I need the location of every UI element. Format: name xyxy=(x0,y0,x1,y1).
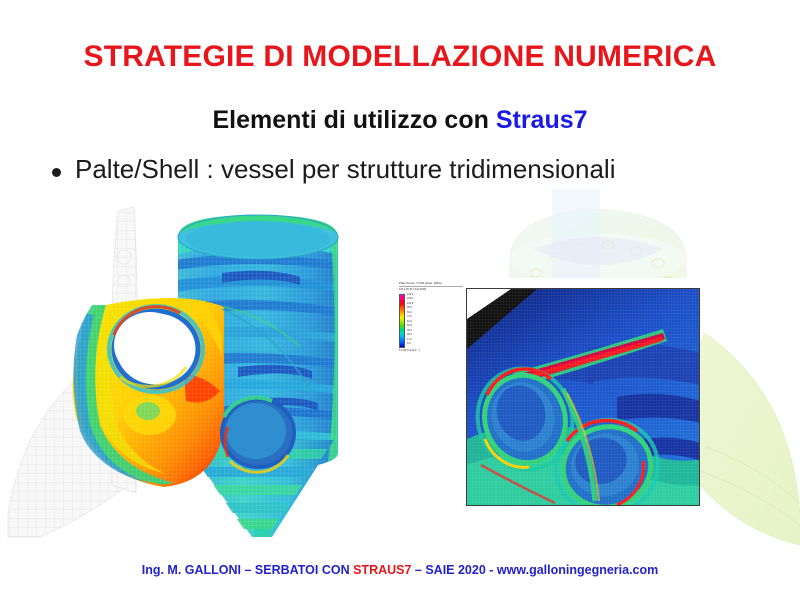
fea-detail-inset: Plate Stress: Tr Mid plane, (MPa) 129.2 … xyxy=(396,278,700,506)
inset-contour-image xyxy=(466,288,700,506)
legend-tick: 106.8 xyxy=(407,303,413,306)
subtitle-accent: Straus7 xyxy=(496,106,588,134)
footer-part1: Ing. M. GALLONI – SERBATOI CON xyxy=(142,563,353,577)
stress-legend: Plate Stress: Tr Mid plane, (MPa) 129.2 … xyxy=(399,281,463,349)
legend-tick: 62.0 xyxy=(407,321,413,324)
bullet-dot-icon xyxy=(52,168,61,177)
legend-tick: 6.0 xyxy=(407,343,413,346)
legend-tick: 84.4 xyxy=(407,312,413,315)
page-title: STRATEGIE DI MODELLAZIONE NUMERICA xyxy=(0,40,800,74)
legend-tick: 129.2 xyxy=(407,294,413,297)
legend-tick: 50.8 xyxy=(407,325,413,328)
legend-tick: 17.2 xyxy=(407,339,413,342)
legend-title: Plate Stress: Tr Mid plane, (MPa) xyxy=(399,281,463,287)
legend-tick: 118.0 xyxy=(407,298,413,301)
pale-green-shell-ghost xyxy=(689,333,800,545)
inset-fea-svg xyxy=(467,289,700,506)
bullet-text: Palte/Shell : vessel per strutture tridi… xyxy=(75,155,615,185)
legend-tick: 28.4 xyxy=(407,334,413,337)
legend-tick: 39.6 xyxy=(407,330,413,333)
subtitle: Elementi di utilizzo con Straus7 xyxy=(0,106,800,135)
bullet-item: Palte/Shell : vessel per strutture tridi… xyxy=(52,155,772,185)
footer-highlight: STRAUS7 xyxy=(353,563,411,577)
legend-max-label: 129.2 [Pt:317 Surf:4629] xyxy=(399,288,463,292)
legend-tick: 73.2 xyxy=(407,316,413,319)
legend-tick: 95.6 xyxy=(407,307,413,310)
slide-canvas: Plate Stress: Tr Mid plane, (MPa) 129.2 … xyxy=(0,0,800,600)
footer: Ing. M. GALLONI – SERBATOI CON STRAUS7 –… xyxy=(0,563,800,577)
footer-part2: – SAIE 2020 - www.galloningegneria.com xyxy=(411,563,658,577)
legend-colorbar xyxy=(399,294,405,348)
legend-ticks: 129.2 118.0 106.8 95.6 84.4 73.2 62.0 50… xyxy=(407,294,413,346)
nozzle-opening-upper xyxy=(109,306,203,392)
legend-min-label: 6.2 [Pt:713 Surf:...] xyxy=(399,349,463,353)
subtitle-prefix: Elementi di utilizzo con xyxy=(212,106,495,134)
